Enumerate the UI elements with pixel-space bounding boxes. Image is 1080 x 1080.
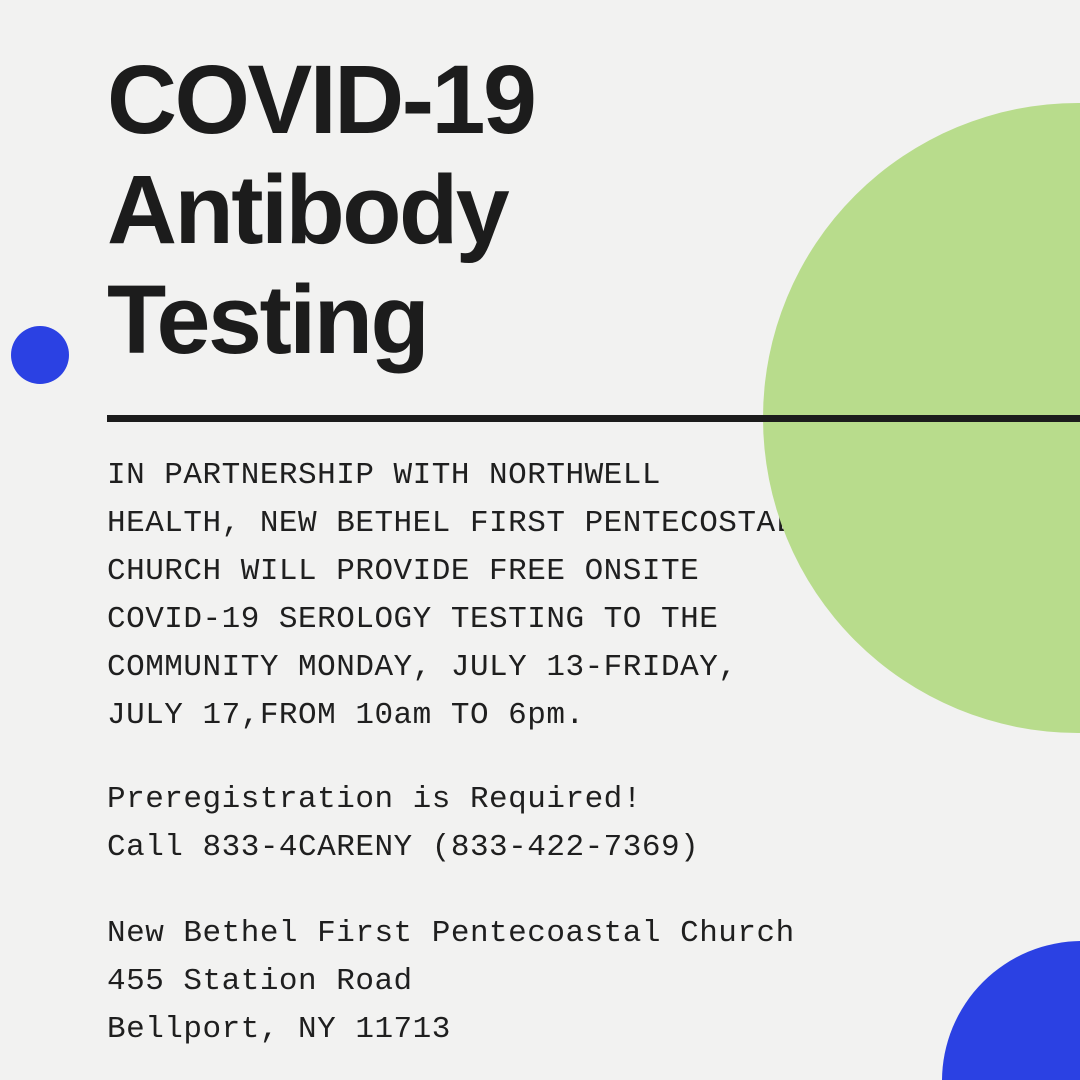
venue-name: New Bethel First Pentecoastal Church bbox=[107, 910, 1007, 958]
street-address: 455 Station Road bbox=[107, 958, 1007, 1006]
phone-number-line[interactable]: Call 833-4CARENY (833-422-7369) bbox=[107, 824, 1007, 872]
body-line-4: COVID-19 SEROLOGY TESTING TO THE bbox=[107, 596, 1007, 644]
address-block: New Bethel First Pentecoastal Church 455… bbox=[107, 910, 1007, 1054]
headline-block: COVID-19 Antibody Testing bbox=[107, 45, 867, 375]
headline-line-2: Antibody bbox=[107, 155, 867, 265]
body-line-3: CHURCH WILL PROVIDE FREE ONSITE bbox=[107, 548, 1007, 596]
city-state-zip: Bellport, NY 11713 bbox=[107, 1006, 1007, 1054]
contact-block: Preregistration is Required! Call 833-4C… bbox=[107, 776, 1007, 872]
body-line-6: JULY 17,FROM 10am TO 6pm. bbox=[107, 692, 1007, 740]
poster-canvas: COVID-19 Antibody Testing IN PARTNERSHIP… bbox=[0, 0, 1080, 1080]
body-line-5: COMMUNITY MONDAY, JULY 13-FRIDAY, bbox=[107, 644, 1007, 692]
horizontal-divider bbox=[107, 415, 1080, 422]
headline-line-3: Testing bbox=[107, 265, 867, 375]
body-line-2: HEALTH, NEW BETHEL FIRST PENTECOSTAL bbox=[107, 500, 1007, 548]
preregistration-notice: Preregistration is Required! bbox=[107, 776, 1007, 824]
blue-dot-decoration bbox=[11, 326, 69, 384]
body-line-1: IN PARTNERSHIP WITH NORTHWELL bbox=[107, 452, 1007, 500]
body-paragraph: IN PARTNERSHIP WITH NORTHWELL HEALTH, NE… bbox=[107, 452, 1007, 740]
headline-line-1: COVID-19 bbox=[107, 45, 867, 155]
